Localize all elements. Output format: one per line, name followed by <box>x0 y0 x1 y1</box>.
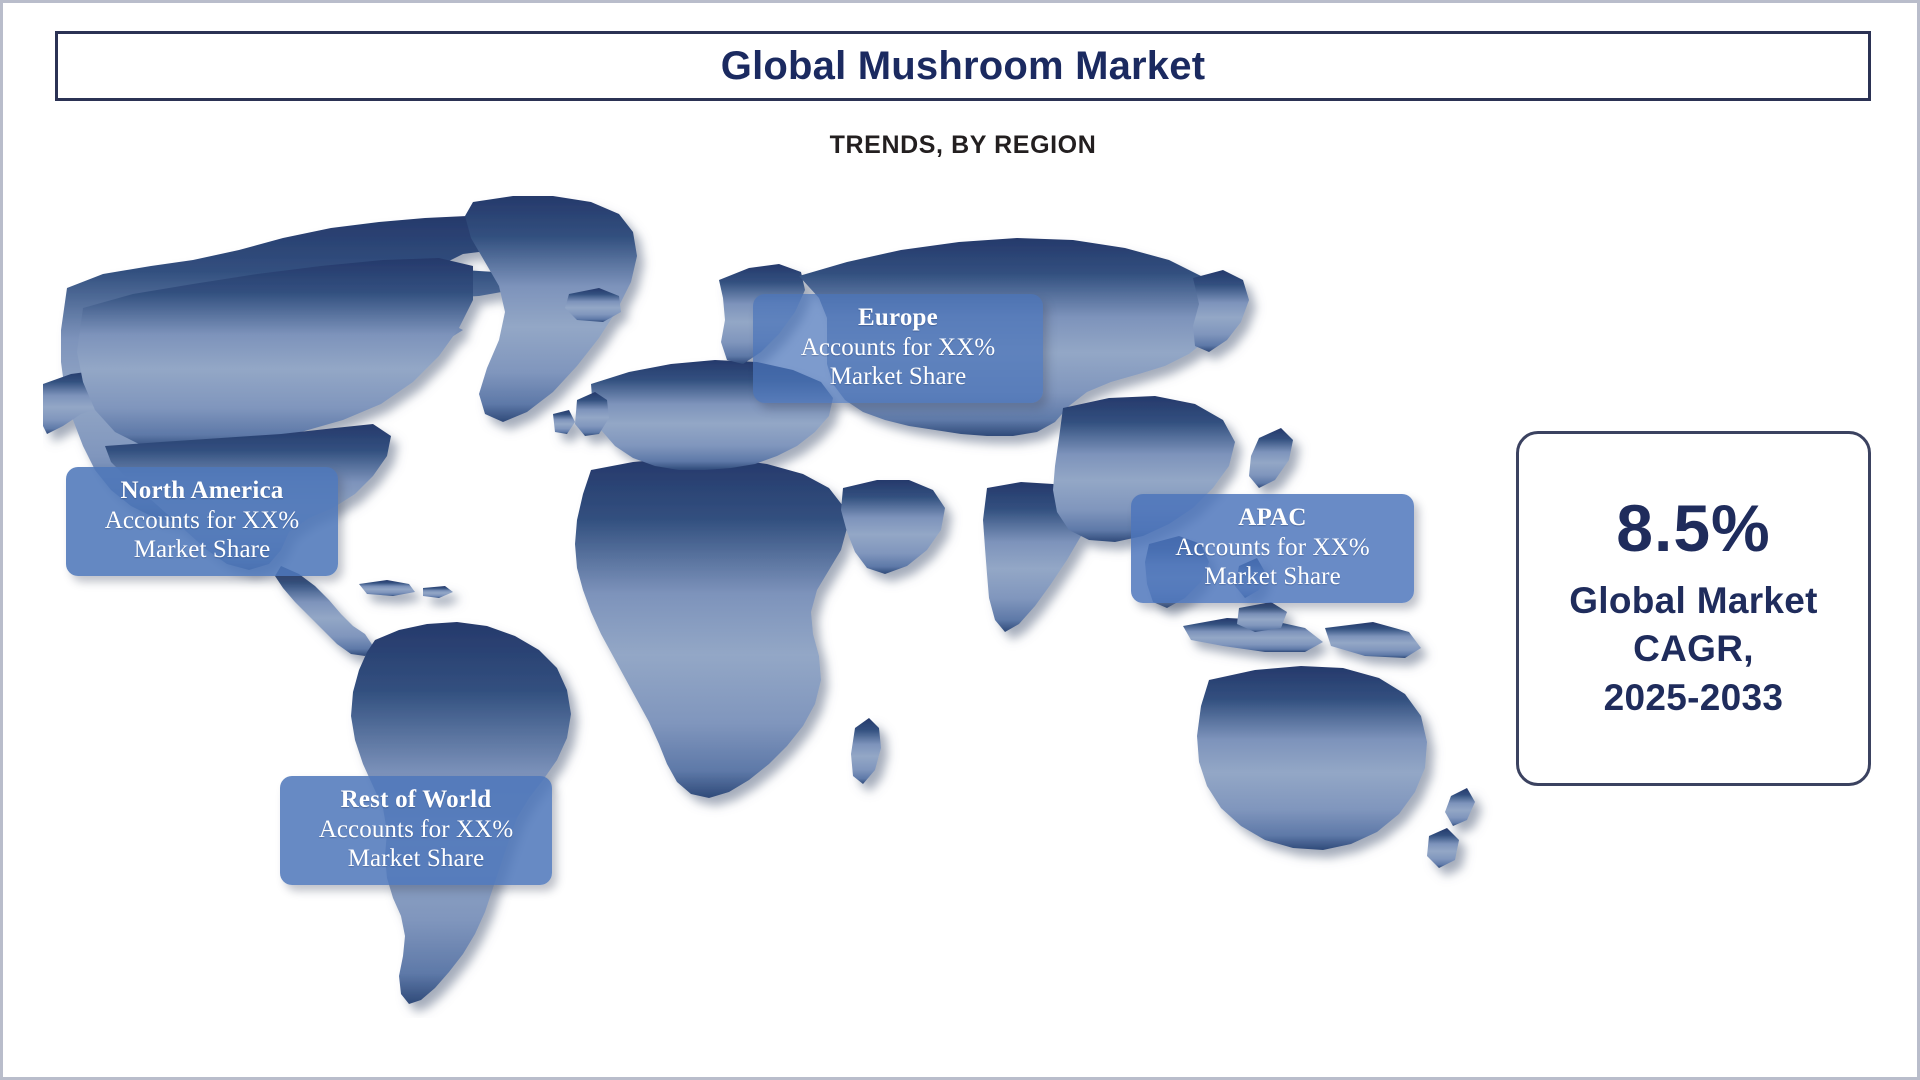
cagr-label-line-2: CAGR, <box>1569 625 1818 673</box>
title-box: Global Mushroom Market <box>55 31 1871 101</box>
landmass-far-east <box>1193 270 1249 352</box>
callout-region-name: North America <box>80 477 324 506</box>
callout-line-1: Accounts for XX% <box>767 333 1029 362</box>
callout-line-1: Accounts for XX% <box>80 506 324 535</box>
callout-apac[interactable]: APAC Accounts for XX% Market Share <box>1131 494 1414 603</box>
callout-region-name: Europe <box>767 304 1029 333</box>
callout-line-2: Market Share <box>80 535 324 564</box>
landmass-arabia <box>841 480 945 574</box>
landmass-caribbean <box>359 580 415 596</box>
cagr-value: 8.5% <box>1616 495 1770 561</box>
callout-region-name: APAC <box>1145 504 1400 533</box>
landmass-central-america <box>275 566 373 656</box>
callout-rest-of-world[interactable]: Rest of World Accounts for XX% Market Sh… <box>280 776 552 885</box>
cagr-label-line-1: Global Market <box>1569 577 1818 625</box>
landmass-australia <box>1197 666 1427 850</box>
callout-line-2: Market Share <box>1145 562 1400 591</box>
landmass-new-zealand <box>1445 788 1475 826</box>
landmass-madagascar <box>851 718 881 784</box>
landmass-japan <box>1249 428 1293 488</box>
cagr-label-line-3: 2025-2033 <box>1569 674 1818 722</box>
callout-region-name: Rest of World <box>294 786 538 815</box>
callout-line-1: Accounts for XX% <box>1145 533 1400 562</box>
callout-north-america[interactable]: North America Accounts for XX% Market Sh… <box>66 467 338 576</box>
landmass-africa <box>575 458 847 798</box>
landmass-new-zealand-south <box>1427 828 1459 868</box>
callout-line-1: Accounts for XX% <box>294 815 538 844</box>
cagr-card: 8.5% Global Market CAGR, 2025-2033 <box>1516 431 1871 786</box>
landmass-new-guinea <box>1325 622 1421 658</box>
infographic-page: Global Mushroom Market TRENDS, BY REGION <box>0 0 1920 1080</box>
landmass-hispaniola <box>423 586 453 598</box>
callout-line-2: Market Share <box>767 362 1029 391</box>
landmass-ireland <box>553 410 575 434</box>
callout-europe[interactable]: Europe Accounts for XX% Market Share <box>753 294 1043 403</box>
cagr-label: Global Market CAGR, 2025-2033 <box>1569 577 1818 721</box>
callout-line-2: Market Share <box>294 844 538 873</box>
page-subtitle: TRENDS, BY REGION <box>3 131 1920 160</box>
page-title: Global Mushroom Market <box>721 44 1205 89</box>
